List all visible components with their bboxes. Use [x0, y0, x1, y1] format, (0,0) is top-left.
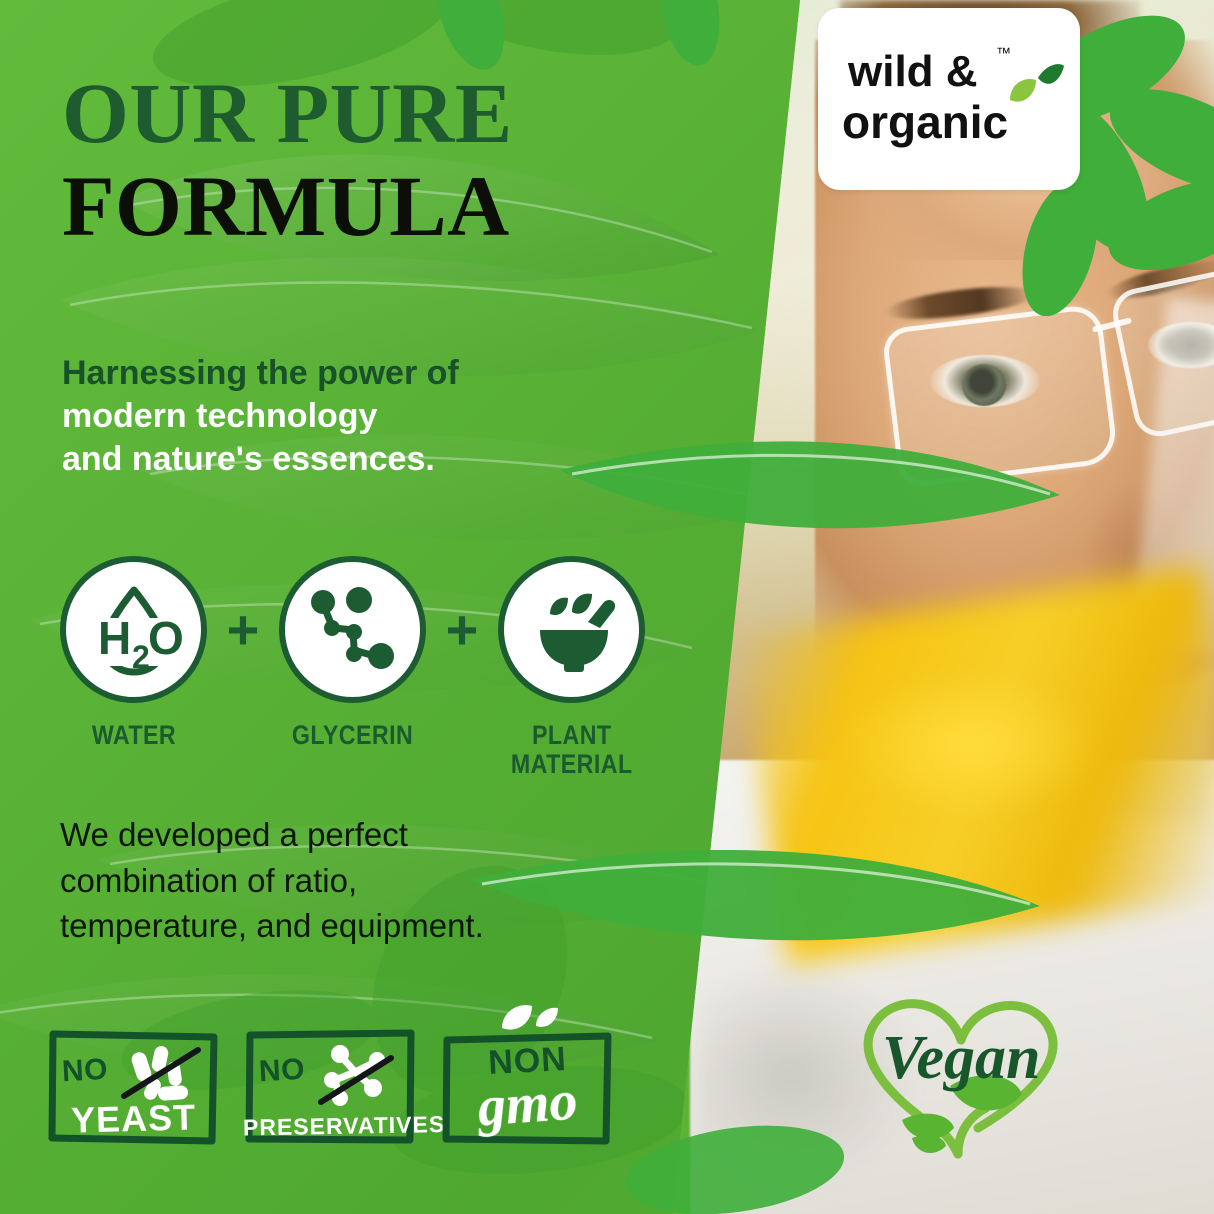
subheadline-line-2: modern technology — [62, 395, 682, 438]
body-paragraph: We developed a perfect combination of ra… — [60, 812, 660, 949]
badge-main-preservatives: PRESERVATIVES — [243, 1111, 418, 1141]
badge-non-gmo: NON gmo — [440, 1028, 615, 1148]
claim-badges: NO YEAST — [46, 1028, 615, 1148]
yellow-liquid-highlight — [820, 660, 1120, 830]
plus-sign-1: + — [207, 556, 279, 703]
logo-text-line-1: wild & — [847, 47, 978, 96]
subheadline-line-3: and nature's essences. — [62, 438, 682, 481]
ingredient-glycerin: GLYCERIN — [279, 556, 426, 750]
ingredient-label-water: WATER — [91, 721, 175, 750]
svg-text:O: O — [148, 612, 184, 664]
ingredient-label-plant-material: PLANT MATERIAL — [511, 721, 633, 778]
left-content: OUR PURE FORMULA Harnessing the power of… — [0, 0, 800, 1214]
badge-prefix-no: NO — [258, 1053, 306, 1089]
plus-sign-2: + — [426, 556, 498, 703]
subheadline-line-1: Harnessing the power of — [62, 352, 682, 395]
body-line-3: temperature, and equipment. — [60, 903, 660, 949]
wild-and-organic-logo[interactable]: wild & ™ organic — [818, 8, 1080, 190]
plant-label-line-2: MATERIAL — [511, 749, 633, 779]
body-line-1: We developed a perfect — [60, 812, 660, 858]
badge-no-preservatives: NO PRESERVATIVES — [243, 1028, 418, 1148]
title-line-1: OUR PURE — [62, 72, 513, 155]
title-line-2: FORMULA — [62, 165, 513, 248]
badge-prefix-no: NO — [61, 1053, 109, 1089]
page-title: OUR PURE FORMULA — [62, 72, 513, 247]
mortar-pestle-plant-icon — [498, 556, 645, 703]
safety-glasses-lens-left — [881, 303, 1119, 489]
ingredient-list: H 2 O WATER + — [60, 556, 700, 778]
badge-main-yeast: YEAST — [45, 1096, 221, 1143]
vegan-heart-vine-icon: Vegan — [846, 982, 1076, 1172]
product-infographic: OUR PURE FORMULA Harnessing the power of… — [0, 0, 1214, 1214]
svg-text:H: H — [98, 612, 131, 664]
water-drop-h2o-icon: H 2 O — [60, 556, 207, 703]
vegan-label: Vegan — [882, 1024, 1040, 1092]
ingredient-water: H 2 O WATER — [60, 556, 207, 750]
subheadline: Harnessing the power of modern technolog… — [62, 352, 682, 480]
trademark-icon: ™ — [996, 45, 1011, 62]
ingredient-label-glycerin: GLYCERIN — [292, 721, 413, 750]
logo-text-line-2: organic — [842, 96, 1008, 148]
badge-no-yeast: NO YEAST — [46, 1028, 221, 1148]
leaf-sprout-icon — [1010, 64, 1064, 101]
ingredient-plant-material: PLANT MATERIAL — [498, 556, 645, 778]
body-line-2: combination of ratio, — [60, 858, 660, 904]
glycerin-molecule-icon — [279, 556, 426, 703]
plant-label-line-1: PLANT — [532, 720, 612, 750]
